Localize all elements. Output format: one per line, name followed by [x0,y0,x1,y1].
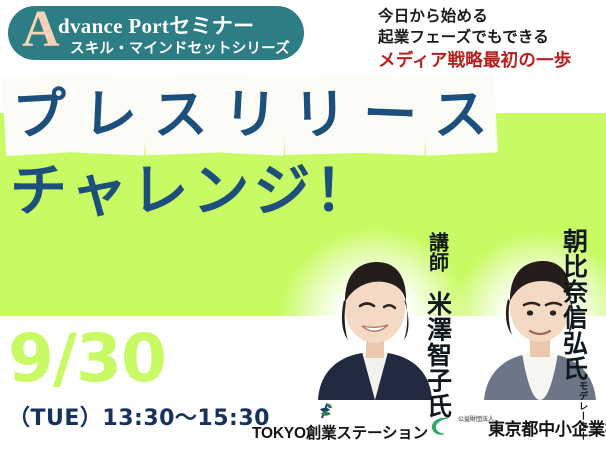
title-card: ス [422,74,498,155]
title-card-char: プ [12,87,69,144]
speaker-name-label: 講師 米澤智子氏 [424,232,451,419]
event-day-and-time: （TUE）13:30〜15:30 [8,408,270,430]
title-card-char: リ [222,87,279,144]
moderator-label-stack: モデレーター 朝比奈信弘氏 [560,228,587,441]
title-line-1-cards: プ レ ス リ リ ー ス [4,76,494,154]
brand-title: dvance Portセミナー [58,10,254,40]
title-card: ス [143,75,218,156]
title-card-char: レ [82,87,138,143]
brand-header-pill: A dvance Portセミナー スキル・マインドセットシリーズ [8,6,304,60]
event-date: 9/30 [8,326,166,392]
speaker-role: 講師 [426,232,450,272]
title-card-char: ス [152,87,208,143]
title-card-char: ス [432,87,489,144]
moderator-name: 朝比奈信弘氏 [560,228,587,381]
moderator-role: モデレーター [576,381,586,441]
moderator-name-label: モデレーター 朝比奈信弘氏 [560,228,587,441]
catchcopy-line-3-accent: メディア戦略最初の一歩 [378,49,571,72]
title-line-2: チャレンジ！ [10,163,375,220]
title-card: プ [2,74,78,156]
seminar-poster: A dvance Portセミナー スキル・マインドセットシリーズ 今日から始め… [0,0,606,455]
catchcopy-line-2: 起業フェーズでもできる [378,27,571,48]
brand-subtitle: スキル・マインドセットシリーズ [70,37,290,58]
title-card: レ [72,74,147,155]
title-card-char: ー [362,87,418,143]
title-card: リ [283,75,357,155]
tokyo-startup-station-logo: TOKYO創業ステーション [252,399,426,449]
tokyo-startup-station-name: TOKYO創業ステーション [252,421,428,443]
brand-initial-letter: A [22,4,60,56]
kosha-name: 東京都中小企業振興公社 [488,415,606,440]
sprout-mark-icon [314,400,336,420]
catchcopy-block: 今日から始める 起業フェーズでもできる メディア戦略最初の一歩 [378,6,571,72]
speaker-name: 米澤智子氏 [424,291,453,419]
title-card-char: リ [292,87,347,142]
title-card: ー [353,75,428,156]
title-card: リ [212,74,288,156]
catchcopy-line-1: 今日から始める [378,6,571,27]
